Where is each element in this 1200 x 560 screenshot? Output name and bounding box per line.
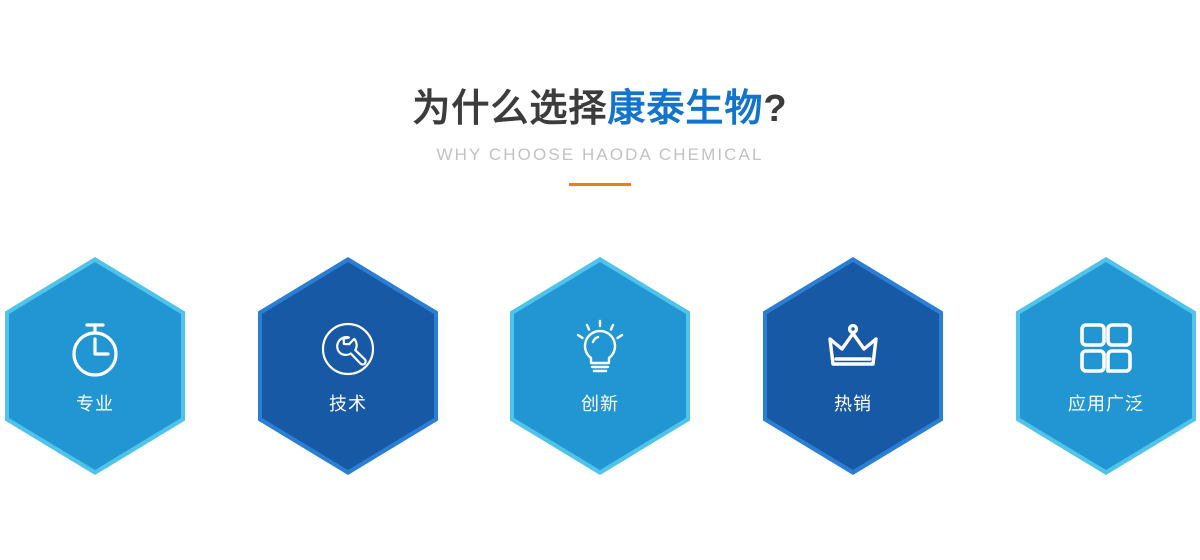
- why-choose-us-section: 为什么选择康泰生物? WHY CHOOSE HAODA CHEMICAL 专业: [0, 0, 1200, 560]
- feature-card-content: 应用广泛: [1016, 257, 1196, 475]
- lightbulb-icon: [568, 317, 632, 381]
- section-heading: 为什么选择康泰生物? WHY CHOOSE HAODA CHEMICAL: [0, 86, 1200, 186]
- feature-card-technology[interactable]: 技术: [258, 257, 438, 475]
- feature-label: 创新: [581, 393, 619, 415]
- feature-card-content: 创新: [510, 257, 690, 475]
- wrench-circle-icon: [316, 317, 380, 381]
- heading-underline-rule: [569, 183, 631, 186]
- page-title-question-mark: ?: [763, 88, 787, 130]
- feature-label: 热销: [834, 393, 872, 415]
- feature-card-professional[interactable]: 专业: [5, 257, 185, 475]
- feature-card-content: 技术: [258, 257, 438, 475]
- page-title-prefix: 为什么选择: [412, 88, 607, 130]
- feature-card-content: 热销: [763, 257, 943, 475]
- feature-card-content: 专业: [5, 257, 185, 475]
- page-subtitle: WHY CHOOSE HAODA CHEMICAL: [0, 144, 1200, 166]
- feature-label: 技术: [329, 393, 367, 415]
- feature-label: 应用广泛: [1068, 393, 1144, 415]
- page-title: 为什么选择康泰生物?: [0, 86, 1200, 132]
- page-title-brand: 康泰生物: [607, 88, 763, 130]
- feature-card-innovation[interactable]: 创新: [510, 257, 690, 475]
- crown-icon: [821, 317, 885, 381]
- grid-squares-icon: [1074, 317, 1138, 381]
- feature-hexagon-row: 专业 技术: [0, 257, 1200, 475]
- stopwatch-icon: [63, 317, 127, 381]
- feature-label: 专业: [76, 393, 114, 415]
- feature-card-wide-application[interactable]: 应用广泛: [1016, 257, 1196, 475]
- feature-card-best-selling[interactable]: 热销: [763, 257, 943, 475]
